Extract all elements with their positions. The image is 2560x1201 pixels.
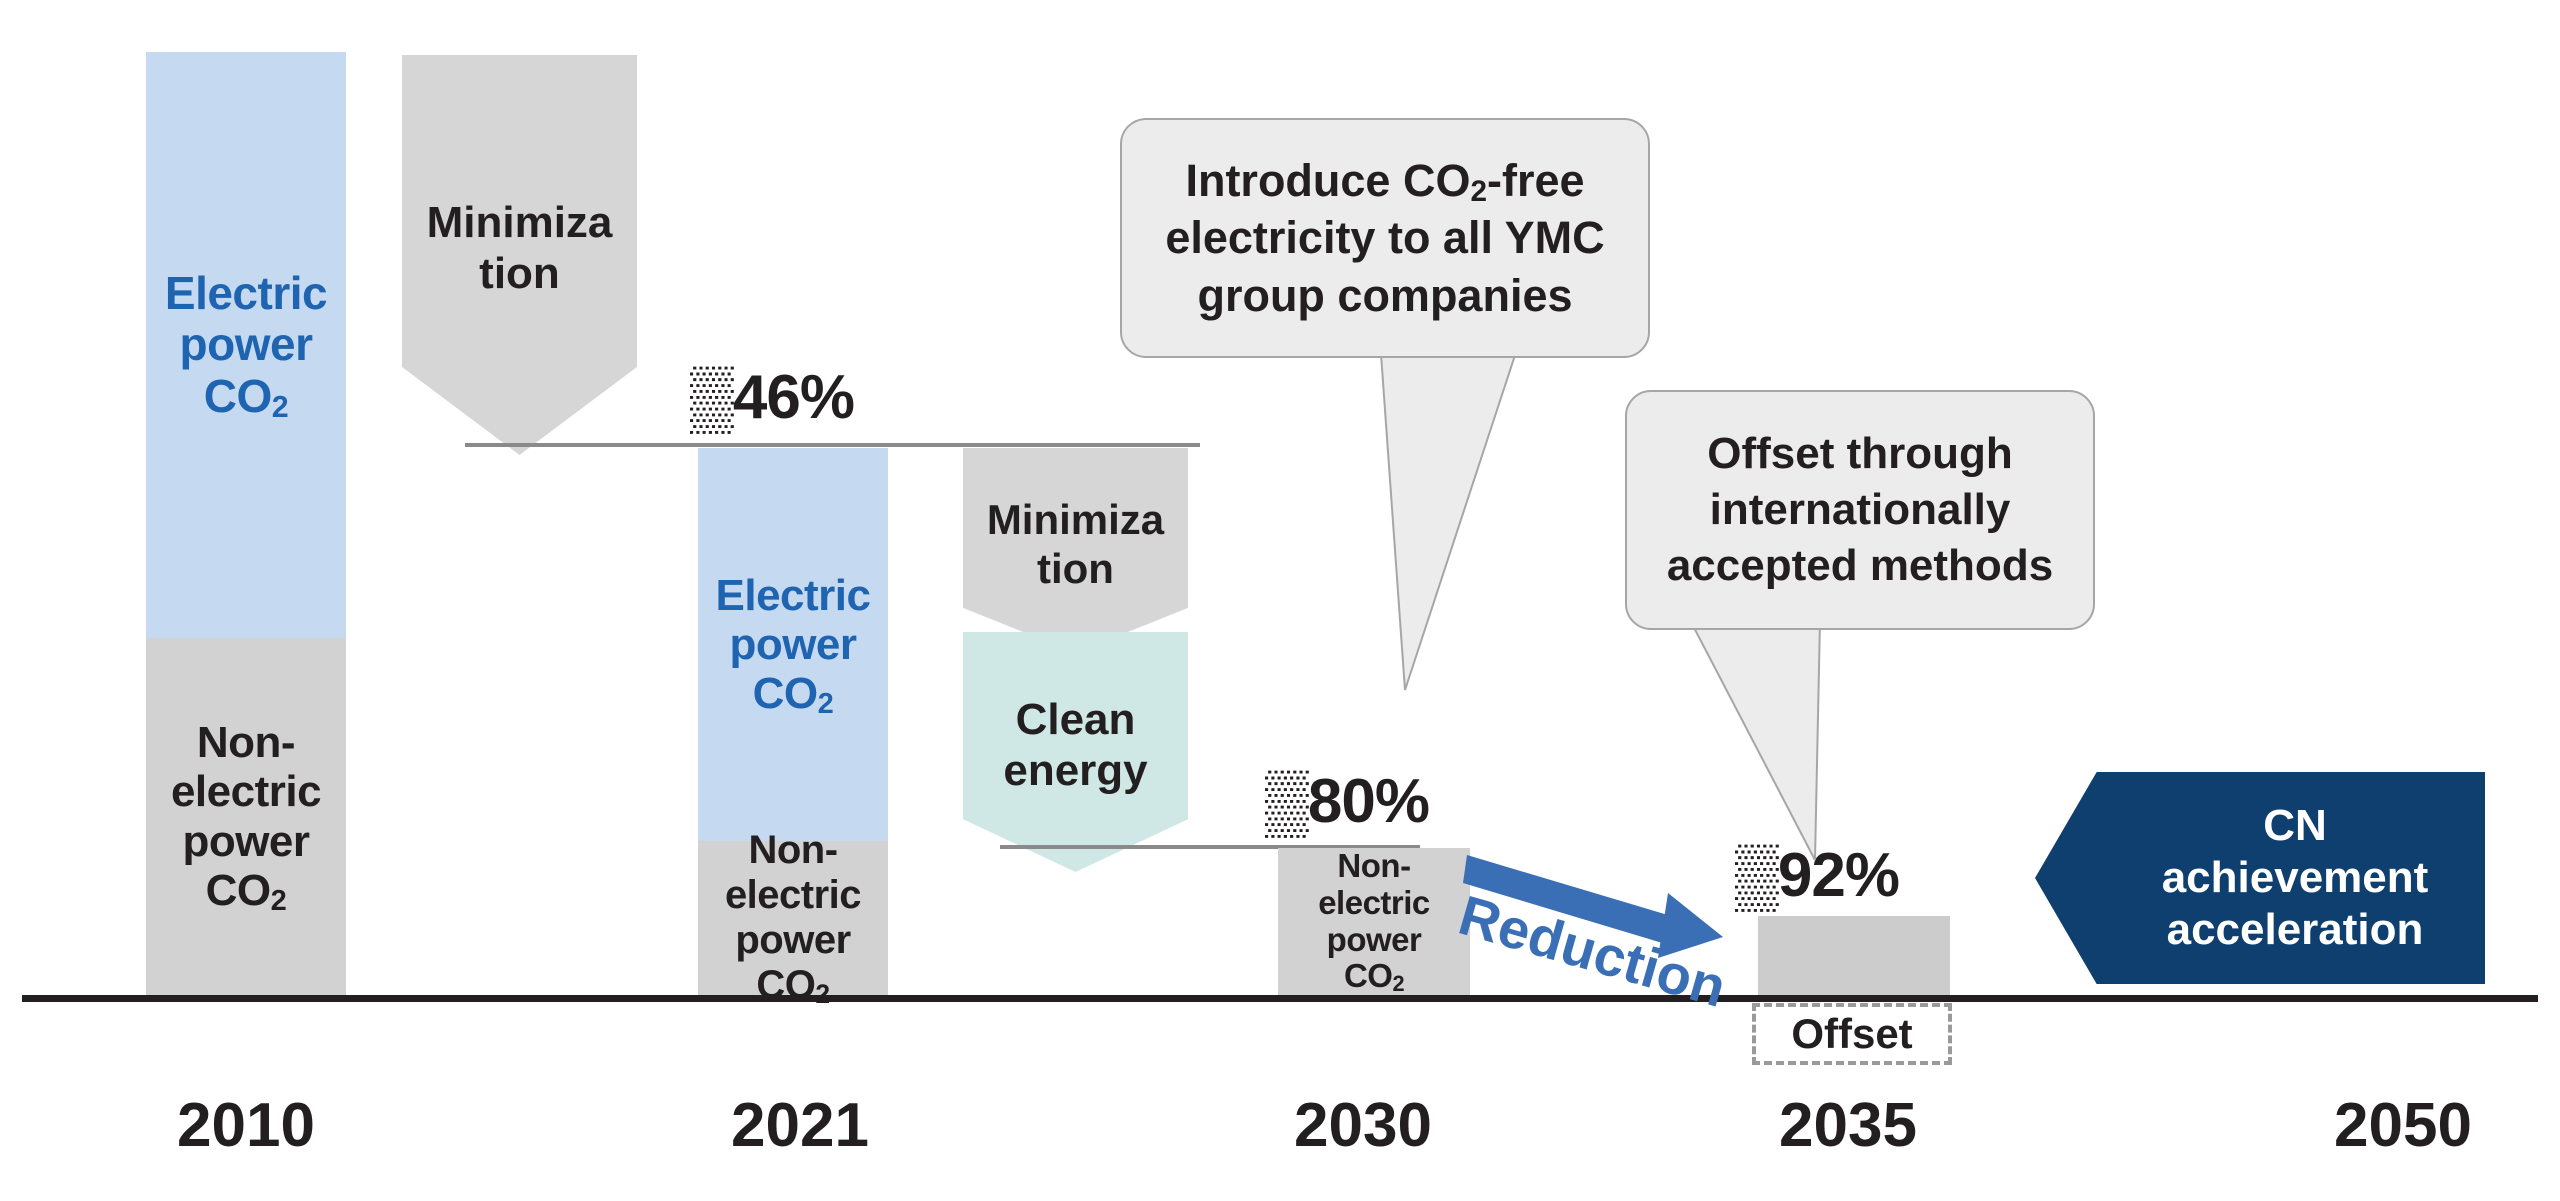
minimization-arrow-2030: Minimiza tion bbox=[963, 448, 1188, 653]
chart-baseline bbox=[22, 995, 2538, 1002]
offset-label: Offset bbox=[1791, 1010, 1912, 1058]
callout-offset-line3: accepted methods bbox=[1667, 538, 2053, 594]
bar-2021-electric-line1: Electric bbox=[716, 571, 871, 620]
cn-arrow-line1: CN bbox=[2105, 800, 2485, 852]
bar-2010-electric-power-co2: Electric power CO2 bbox=[146, 52, 346, 638]
minimization-arrow-2021: Minimiza tion bbox=[402, 55, 637, 455]
bar-2021-electric-line3: CO2 bbox=[716, 669, 871, 718]
offset-box-2035: Offset bbox=[1752, 1003, 1952, 1065]
cn-arrow-line2: achievement bbox=[2105, 852, 2485, 904]
callout-offset-methods-tail bbox=[1690, 620, 1920, 870]
cn-arrow-line3: acceleration bbox=[2105, 904, 2485, 956]
clean-energy-arrow-2030: Clean energy bbox=[963, 632, 1188, 872]
bar-2035-residual-emissions bbox=[1758, 916, 1950, 998]
callout-co2-free-line2: electricity to all YMC bbox=[1165, 209, 1604, 267]
bar-2010-nonelectric-line2: electric bbox=[171, 767, 321, 816]
callout-co2-free-electricity: Introduce CO2-free electricity to all YM… bbox=[1120, 118, 1650, 358]
bar-2030-nonelectric-power-co2: Non- electric power CO2 bbox=[1278, 848, 1470, 995]
year-label-2021: 2021 bbox=[680, 1090, 920, 1161]
reduction-label-80: ▒80% bbox=[1265, 766, 1429, 837]
callout-offset-line1: Offset through bbox=[1667, 426, 2053, 482]
cn-achievement-acceleration-arrow: CN achievement acceleration bbox=[2035, 772, 2485, 984]
year-label-2035: 2035 bbox=[1728, 1090, 1968, 1161]
year-label-2030: 2030 bbox=[1243, 1090, 1483, 1161]
bar-2010-electric-line2: power bbox=[165, 319, 327, 371]
clean-energy-line2: energy bbox=[1003, 746, 1147, 797]
reduction-label-46: ▒46% bbox=[690, 362, 854, 433]
minimization-2021-line2: tion bbox=[427, 249, 613, 300]
minimization-2030-line2: tion bbox=[987, 545, 1164, 593]
bar-2021-nonelectric-line1: Non- bbox=[725, 828, 861, 873]
bar-2021-nonelectric-line2: electric bbox=[725, 873, 861, 918]
year-label-2010: 2010 bbox=[126, 1090, 366, 1161]
year-label-2050: 2050 bbox=[2283, 1090, 2523, 1161]
bar-2030-nonelectric-line4: CO2 bbox=[1318, 958, 1430, 995]
bar-2021-electric-line2: power bbox=[716, 620, 871, 669]
callout-offset-line2: internationally bbox=[1667, 482, 2053, 538]
callout-co2-free-line1: Introduce CO2-free bbox=[1165, 152, 1604, 210]
bar-2010-nonelectric-line4: CO2 bbox=[171, 866, 321, 915]
bar-2030-nonelectric-line1: Non- bbox=[1318, 848, 1430, 885]
callout-offset-methods: Offset through internationally accepted … bbox=[1625, 390, 2095, 630]
minimization-2030-line1: Minimiza bbox=[987, 496, 1164, 544]
bar-2021-nonelectric-power-co2: Non- electric power CO2 bbox=[698, 841, 888, 995]
bar-2010-nonelectric-line3: power bbox=[171, 817, 321, 866]
reference-line-46 bbox=[465, 443, 1200, 447]
bar-2010-electric-line1: Electric bbox=[165, 268, 327, 320]
bar-2010-electric-line3: CO2 bbox=[165, 371, 327, 423]
bar-2030-nonelectric-line2: electric bbox=[1318, 885, 1430, 922]
bar-2021-nonelectric-line3: power bbox=[725, 918, 861, 963]
callout-co2-free-tail bbox=[1360, 340, 1620, 700]
bar-2010-nonelectric-line1: Non- bbox=[171, 718, 321, 767]
minimization-2021-line1: Minimiza bbox=[427, 198, 613, 249]
bar-2010-nonelectric-power-co2: Non- electric power CO2 bbox=[146, 638, 346, 995]
chart-canvas: Electric power CO2 Non- electric power C… bbox=[0, 0, 2560, 1201]
callout-co2-free-line3: group companies bbox=[1165, 267, 1604, 325]
bar-2021-electric-power-co2: Electric power CO2 bbox=[698, 448, 888, 841]
bar-2030-nonelectric-line3: power bbox=[1318, 922, 1430, 959]
clean-energy-line1: Clean bbox=[1003, 695, 1147, 746]
